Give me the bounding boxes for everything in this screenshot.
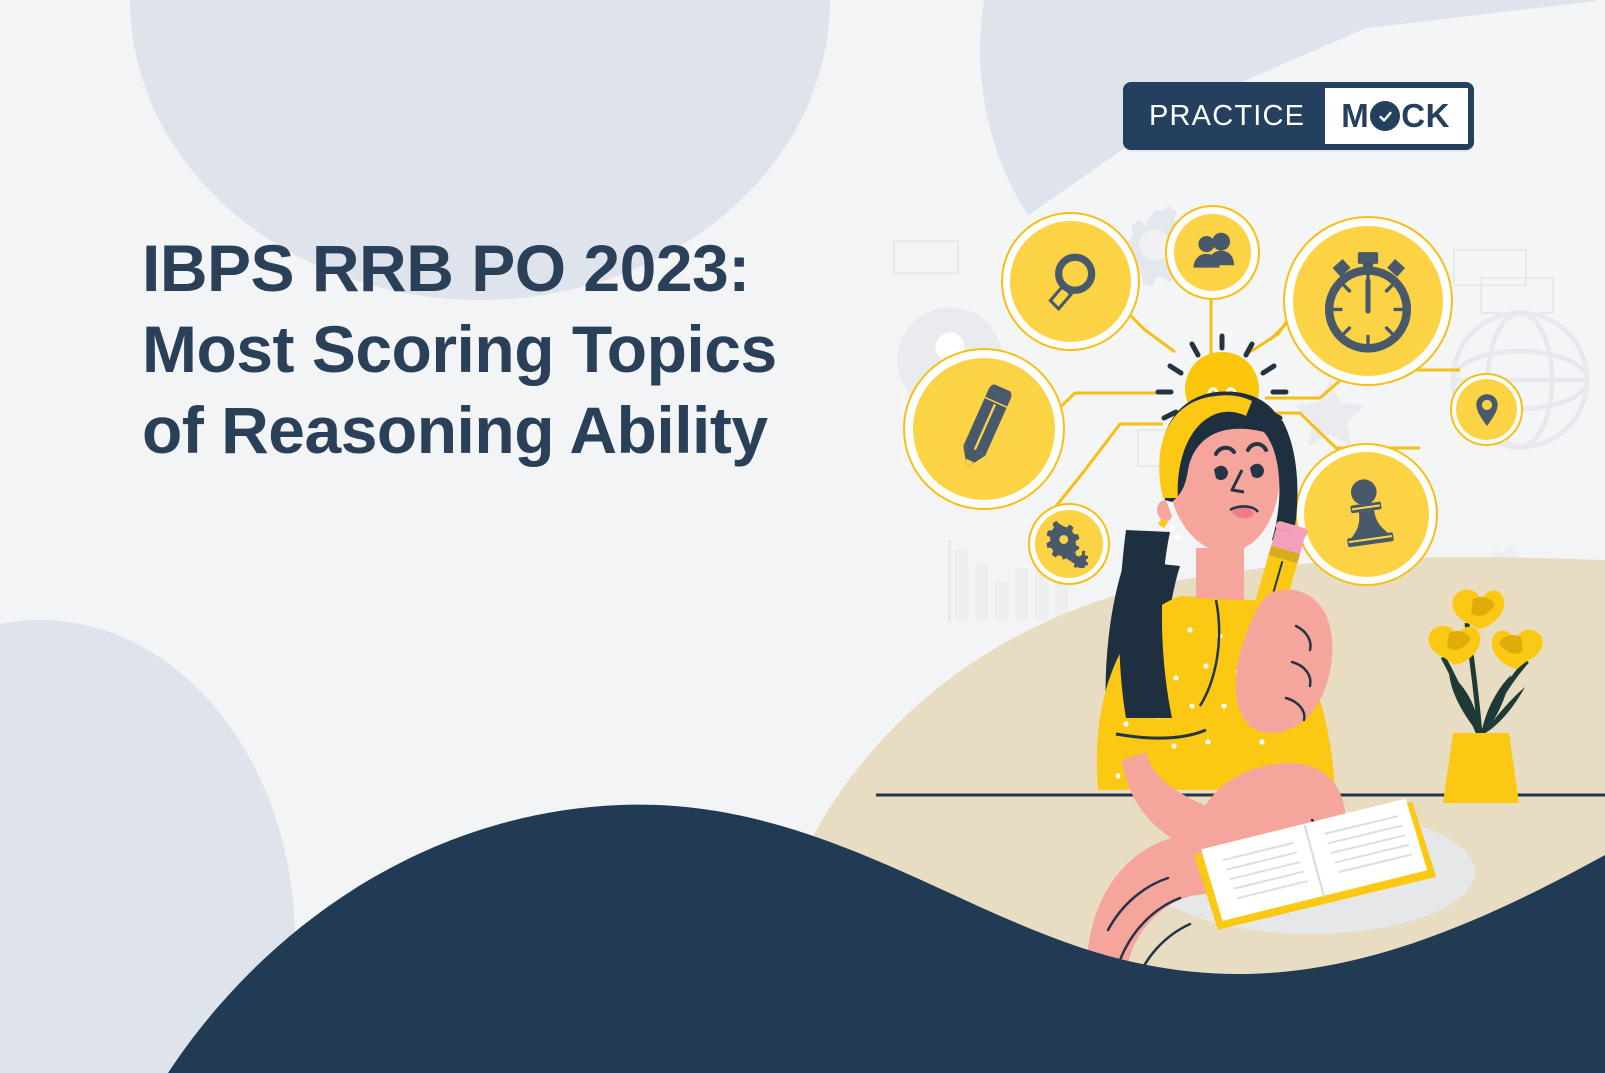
people-icon (1187, 227, 1239, 279)
logo-mock-box: M CK (1325, 88, 1468, 144)
magnifying-glass-icon (1038, 249, 1104, 315)
logo-practice-text: PRACTICE (1123, 82, 1325, 150)
chess-pawn-icon (1326, 474, 1408, 556)
stopwatch-icon (1314, 247, 1422, 355)
map-pin-icon (1469, 392, 1505, 428)
promo-banner: PRACTICE M CK IBPS RRB PO 2023: Most Sco… (0, 0, 1605, 1073)
gears-icon (1045, 520, 1093, 568)
practicemock-logo[interactable]: PRACTICE M CK (1123, 82, 1474, 150)
bottom-wave (0, 743, 1605, 1073)
logo-mock-m: M (1341, 97, 1369, 135)
headline-line-3: of Reasoning Ability (142, 390, 902, 471)
logo-mock-text: M CK (1341, 97, 1450, 135)
page-title: IBPS RRB PO 2023: Most Scoring Topics of… (142, 228, 902, 472)
headline-line-1: IBPS RRB PO 2023: (142, 228, 902, 309)
pencil-icon (936, 381, 1032, 477)
check-icon (1370, 101, 1400, 131)
logo-mock-ck: CK (1401, 97, 1450, 135)
headline-line-2: Most Scoring Topics (142, 309, 902, 390)
